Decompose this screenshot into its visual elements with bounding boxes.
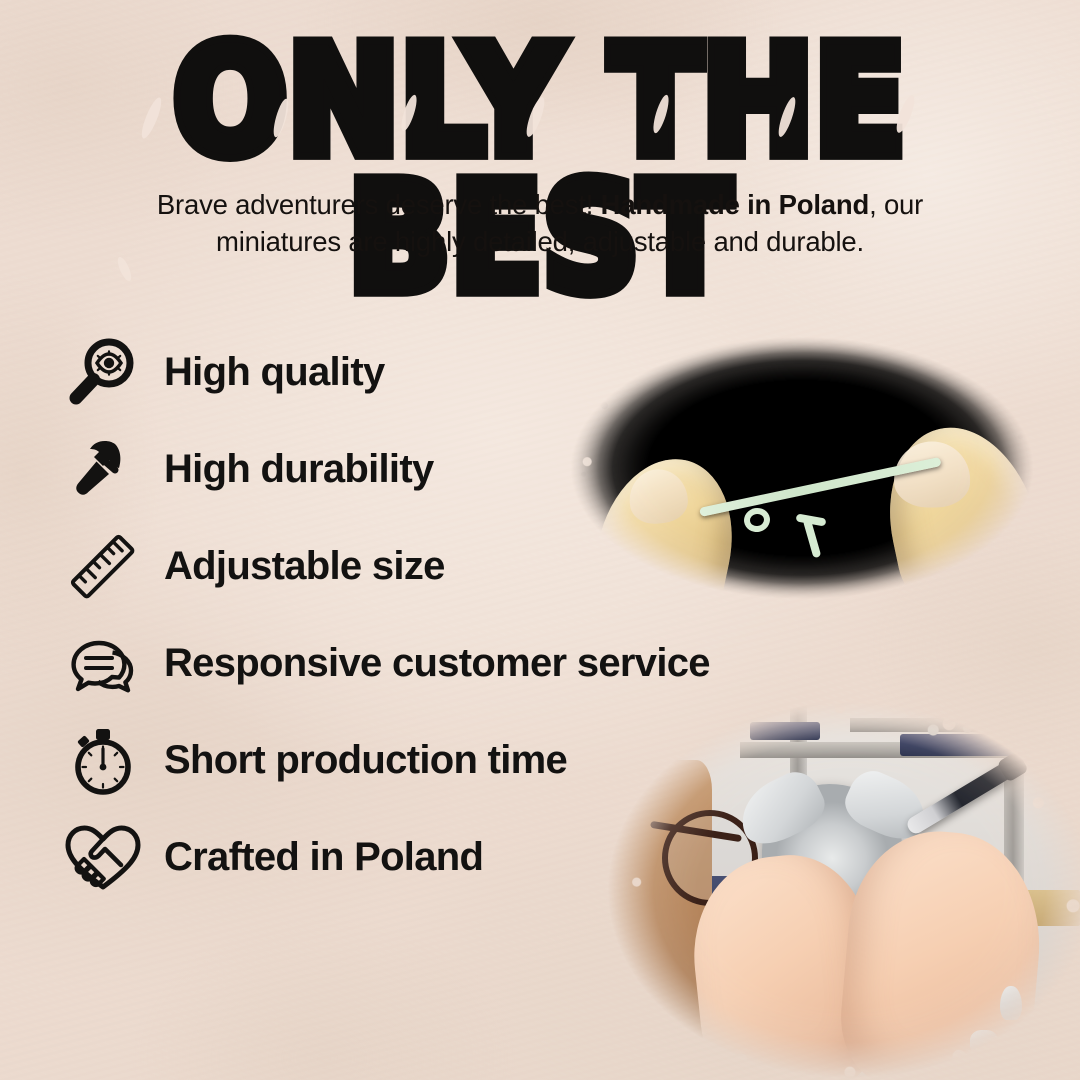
left-thumbnail (627, 467, 690, 527)
subtitle-lead: Brave adventurers deserve the best! (157, 189, 593, 220)
workshop-painting-photo-content (600, 700, 1080, 1080)
stopwatch-icon (62, 720, 144, 802)
feature-label: High quality (164, 350, 385, 395)
feature-label: Short production time (164, 738, 567, 783)
parts-tray-top (750, 722, 820, 740)
feature-label: Crafted in Poland (164, 835, 483, 880)
feature-label: High durability (164, 447, 434, 492)
feature-label: Adjustable size (164, 544, 445, 589)
spare-miniature-a (1000, 986, 1022, 1020)
magnifier-eye-icon (62, 332, 144, 414)
page-title: ONLY THE BEST (0, 34, 1080, 307)
workshop-painting-photo (600, 700, 1080, 1080)
green-miniature-part (700, 486, 946, 550)
miniature-ring (742, 506, 772, 534)
ruler-icon (62, 526, 144, 608)
feature-item: Responsive customer service (62, 615, 802, 712)
hammer-icon (62, 429, 144, 511)
flexible-miniature-photo-content (548, 318, 1056, 618)
warm-foreground-surface (600, 760, 712, 1060)
flexible-miniature-photo (548, 318, 1056, 618)
speech-bubbles-icon (62, 623, 144, 705)
spare-miniature-b (970, 1030, 998, 1056)
subtitle-emphasis: Handmade in Poland (601, 189, 869, 220)
tray-parts-right (902, 722, 1058, 738)
handshake-heart-icon (62, 817, 144, 899)
subtitle: Brave adventurers deserve the best! Hand… (0, 186, 1080, 261)
feature-label: Responsive customer service (164, 641, 710, 686)
poster-canvas: ONLY THE BEST Brave adventurers deserve … (0, 0, 1080, 1080)
